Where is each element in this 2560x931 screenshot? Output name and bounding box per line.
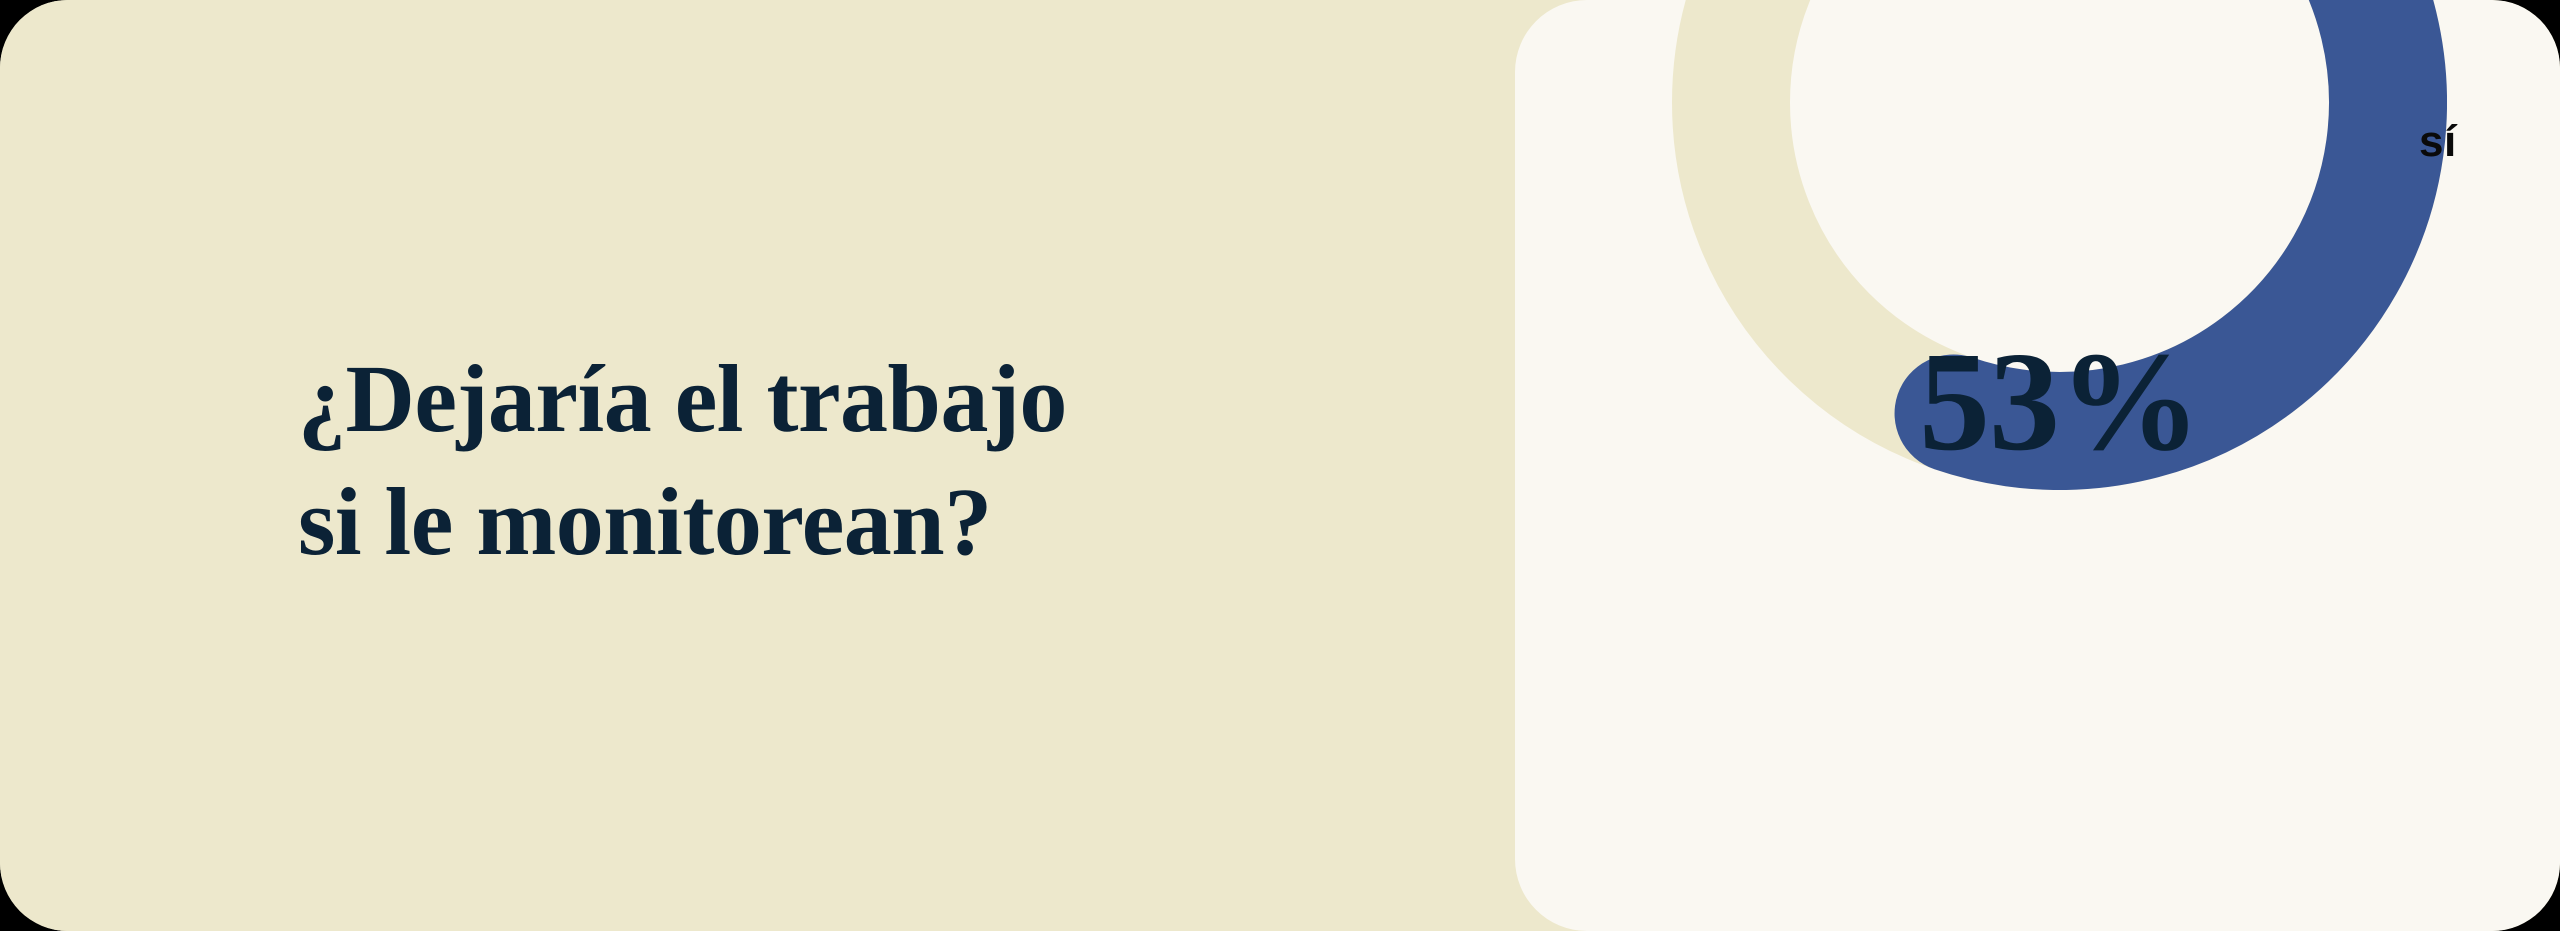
page-title: ¿Dejaría el trabajo si le monitorean? xyxy=(298,338,1358,584)
donut-center-value: 53% xyxy=(1672,330,2447,472)
series-label-si: sí xyxy=(2419,120,2457,164)
stat-card: 53% sí xyxy=(1515,0,2560,931)
question-panel: ¿Dejaría el trabajo si le monitorean? xyxy=(0,0,1530,931)
infographic-card: ¿Dejaría el trabajo si le monitorean? 53… xyxy=(0,0,2560,931)
